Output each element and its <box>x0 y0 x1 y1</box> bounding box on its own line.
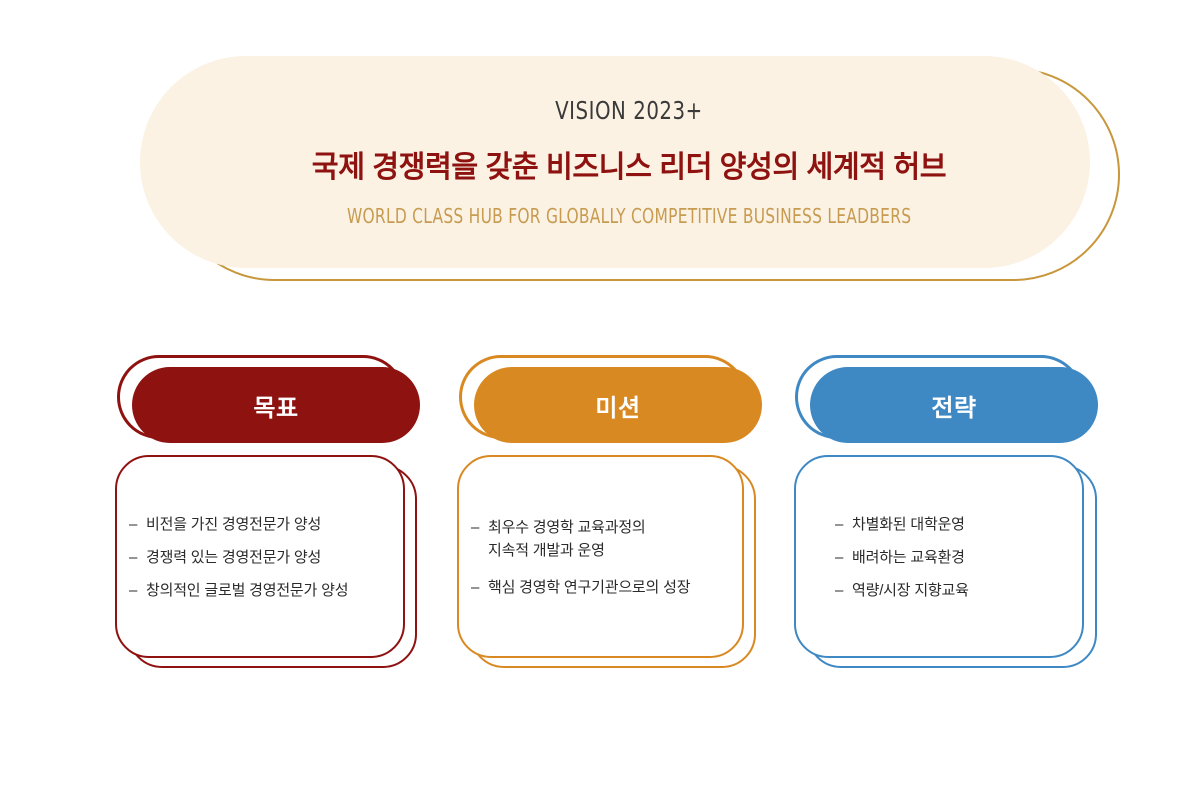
bullet-dash-icon: – <box>835 579 852 602</box>
list-item-label: 배려하는 교육환경 <box>852 546 1085 569</box>
diagram-canvas: VISION 2023+ 국제 경쟁력을 갖춘 비즈니스 리더 양성의 세계적 … <box>0 0 1200 800</box>
vision-kicker: VISION 2023+ <box>555 96 703 125</box>
card-header-mission: 미션 <box>474 367 762 443</box>
bullet-dash-icon: – <box>835 513 852 536</box>
card-goal: 목표 – 비전을 가진 경영전문가 양성 – 경쟁력 있는 경영전문가 양성 –… <box>110 345 430 675</box>
list-item: – 배려하는 교육환경 <box>835 546 1085 569</box>
list-item: – 경쟁력 있는 경영전문가 양성 <box>129 546 407 569</box>
card-header-label: 미션 <box>595 388 640 423</box>
bullet-dash-icon: – <box>129 579 146 602</box>
bullet-dash-icon: – <box>471 576 488 599</box>
list-item-label: 차별화된 대학운영 <box>852 513 1085 536</box>
list-item: – 역량/시장 지향교육 <box>835 579 1085 602</box>
list-item-label: 경쟁력 있는 경영전문가 양성 <box>146 546 407 569</box>
card-mission: 미션 – 최우수 경영학 교육과정의 지속적 개발과 운영 – 핵심 경영학 연… <box>452 345 772 675</box>
list-item-label: 핵심 경영학 연구기관으로의 성장 <box>488 576 749 599</box>
banner-text-group: VISION 2023+ 국제 경쟁력을 갖춘 비즈니스 리더 양성의 세계적 … <box>140 56 1118 268</box>
list-item-label: 최우수 경영학 교육과정의 지속적 개발과 운영 <box>488 516 749 563</box>
list-item: – 비전을 가진 경영전문가 양성 <box>129 513 407 536</box>
card-strategy: 전략 – 차별화된 대학운영 – 배려하는 교육환경 – 역량/시장 지향교육 <box>788 345 1108 675</box>
card-header-goal: 목표 <box>132 367 420 443</box>
bullet-dash-icon: – <box>835 546 852 569</box>
list-item: – 차별화된 대학운영 <box>835 513 1085 536</box>
card-header-label: 목표 <box>253 388 298 423</box>
card-bullet-list-mission: – 최우수 경영학 교육과정의 지속적 개발과 운영 – 핵심 경영학 연구기관… <box>457 455 757 660</box>
bullet-dash-icon: – <box>471 516 488 539</box>
list-item: – 최우수 경영학 교육과정의 지속적 개발과 운영 <box>471 516 749 563</box>
list-item: – 창의적인 글로벌 경영전문가 양성 <box>129 579 407 602</box>
vision-title-korean: 국제 경쟁력을 갖춘 비즈니스 리더 양성의 세계적 허브 <box>312 142 946 186</box>
vision-title-english: WORLD CLASS HUB FOR GLOBALLY COMPETITIVE… <box>347 204 911 228</box>
bullet-dash-icon: – <box>129 513 146 536</box>
card-header-label: 전략 <box>931 388 976 423</box>
list-item-label: 창의적인 글로벌 경영전문가 양성 <box>146 579 407 602</box>
card-bullet-list-goal: – 비전을 가진 경영전문가 양성 – 경쟁력 있는 경영전문가 양성 – 창의… <box>115 455 415 660</box>
pillar-cards: 목표 – 비전을 가진 경영전문가 양성 – 경쟁력 있는 경영전문가 양성 –… <box>0 345 1200 685</box>
list-item: – 핵심 경영학 연구기관으로의 성장 <box>471 576 749 599</box>
card-bullet-list-strategy: – 차별화된 대학운영 – 배려하는 교육환경 – 역량/시장 지향교육 <box>793 455 1093 660</box>
card-header-strategy: 전략 <box>810 367 1098 443</box>
bullet-dash-icon: – <box>129 546 146 569</box>
list-item-label: 역량/시장 지향교육 <box>852 579 1085 602</box>
list-item-label: 비전을 가진 경영전문가 양성 <box>146 513 407 536</box>
vision-banner: VISION 2023+ 국제 경쟁력을 갖춘 비즈니스 리더 양성의 세계적 … <box>0 0 1200 330</box>
